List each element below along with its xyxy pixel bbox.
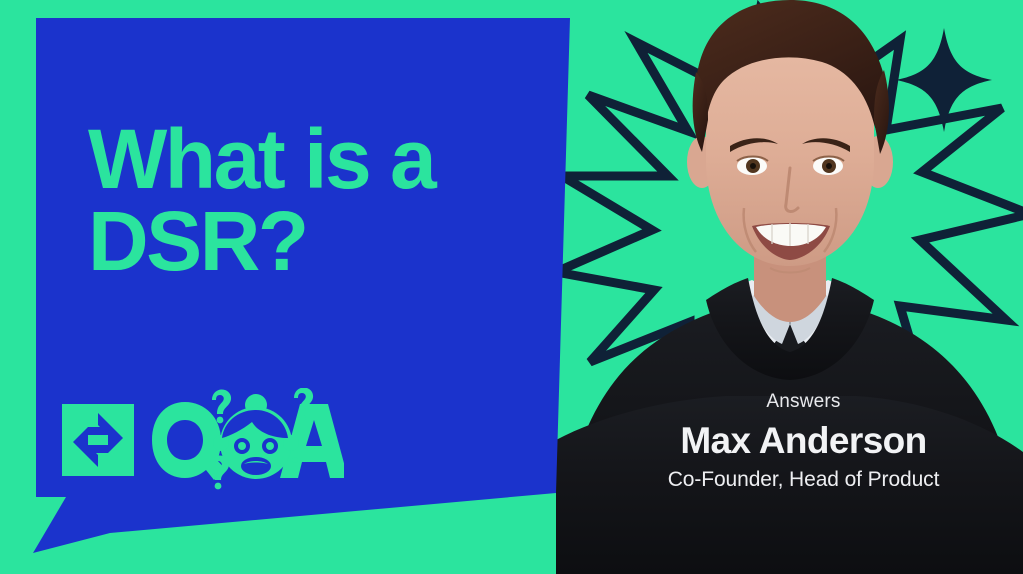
- speaker-role: Co-Founder, Head of Product: [584, 468, 1023, 491]
- headline-line-2: DSR?: [88, 200, 548, 282]
- page-title: What is a DSR?: [88, 118, 548, 283]
- headline-line-1: What is a: [88, 112, 434, 206]
- qa-lockup: [148, 388, 344, 492]
- brand-logo-mark: [62, 404, 134, 476]
- answers-label: Answers: [584, 392, 1023, 413]
- speaker-name: Max Anderson: [584, 422, 1023, 461]
- speaker-caption: Answers Max Anderson Co-Founder, Head of…: [556, 392, 1023, 491]
- brand-qa-lockup: [62, 388, 344, 492]
- thumbnail-canvas: What is a DSR?: [0, 0, 1023, 574]
- bubble-content: What is a DSR?: [36, 18, 570, 553]
